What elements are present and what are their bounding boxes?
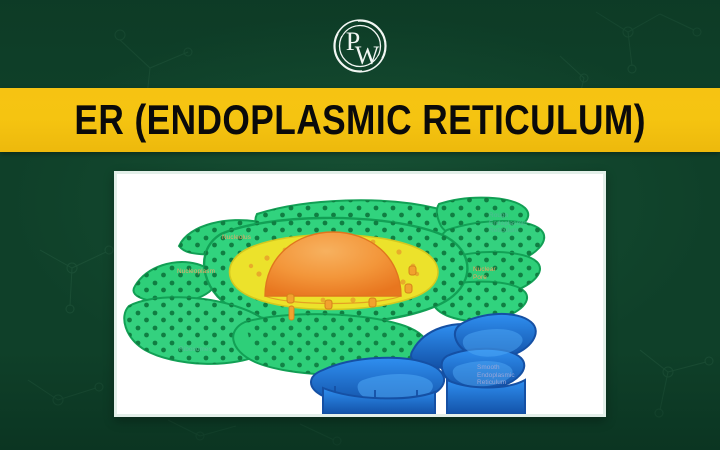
label-rough-er: Rough Endoplasmic Reticulum xyxy=(489,212,527,235)
er-diagram-svg xyxy=(117,174,603,414)
title-banner: ER (ENDOPLASMIC RETICULUM) xyxy=(0,88,720,152)
label-nuclear-pore: Nuclear Pore xyxy=(473,266,496,281)
label-ribosomes: Ribosomes xyxy=(179,346,212,354)
label-nucleoplasm: Nucleoplasm xyxy=(150,268,215,276)
er-diagram: Rough Endoplasmic Reticulum Nucleolus Nu… xyxy=(117,174,603,414)
figure-panel: Rough Endoplasmic Reticulum Nucleolus Nu… xyxy=(114,171,606,417)
slide-root: P W ER (ENDOPLASMIC RETICULUM) xyxy=(0,0,720,450)
label-nucleolus: Nucleolus xyxy=(197,234,251,242)
logo-letter-w: W xyxy=(355,41,380,70)
label-smooth-er: Smooth Endoplasmic Reticulum xyxy=(477,364,515,387)
page-title: ER (ENDOPLASMIC RETICULUM) xyxy=(74,99,645,141)
pw-logo: P W xyxy=(331,17,389,75)
